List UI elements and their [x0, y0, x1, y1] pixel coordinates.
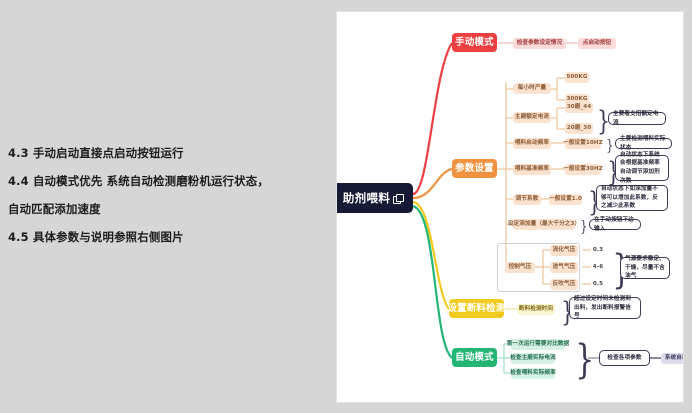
pressure-row-2-value-label: 4-6 [593, 264, 603, 271]
manual-step-1-label: 检查参数设定情况 [517, 40, 563, 47]
main-mill-current-value-1-label: 30磨_44 [567, 104, 592, 111]
manual-step-1[interactable]: 检查参数设定情况 [513, 38, 566, 49]
pressure-row-1-name-label: 流化气压 [553, 247, 576, 254]
note-feed-base-freq[interactable]: 自动状态下系统会根据基准频率自动调节添加剂次数 [615, 155, 669, 181]
param-feed-base-freq-label: 喂料基准频率 [515, 166, 549, 173]
pressure-row-2-name[interactable]: 进气气压 [550, 262, 578, 273]
param-adjust-coeff-label: 调节系数 [516, 196, 539, 203]
manual-step-2-label: 点启动按钮 [583, 40, 611, 47]
auto-item-3-label: 检查喂料实际频率 [510, 370, 556, 377]
pressure-row-3-name-label: 反吹气压 [553, 281, 576, 288]
note-add-amount[interactable]: 在手动按钮下边输入 [589, 219, 641, 230]
auto-result[interactable]: 系统自动运行 [661, 353, 684, 364]
adjust-coeff-value[interactable]: 一般设置1.0 [549, 194, 582, 205]
branch-parameter-settings-label: 参数设置 [455, 163, 494, 175]
auto-item-2-label: 检查主磨实际电流 [510, 355, 556, 362]
note-line-4-4: 4.4 自动模式优先 系统自动检测磨粉机运行状态， [8, 173, 269, 189]
note-adjust-coeff[interactable]: 自动状态下如添加量不够可以增加此系数，反之减少此系数 [596, 185, 668, 211]
note-control-pressure-label: 气源要求稳定、干燥，尽量不含油气 [625, 255, 665, 281]
note-feed-start-freq[interactable]: 主要检测喂料实际状态 [615, 138, 672, 149]
feed-base-freq-value[interactable]: 一般设置30HZ [565, 164, 601, 175]
pressure-row-3-name[interactable]: 反吹气压 [550, 279, 578, 290]
branch-break-detection[interactable]: 设置断料检测 [449, 299, 504, 318]
brace-auto-mode: } [575, 340, 594, 380]
param-control-pressure[interactable]: 控制气压 [505, 262, 535, 273]
pressure-row-2-name-label: 进气气压 [553, 264, 576, 271]
note-feed-base-freq-label: 自动状态下系统会根据基准频率自动调节添加剂次数 [620, 151, 664, 186]
main-mill-current-value-2-label: 20磨_30 [567, 125, 592, 132]
branch-auto-mode-label: 自动模式 [455, 352, 494, 364]
param-main-mill-current[interactable]: 主磨额定电流 [513, 112, 551, 123]
auto-item-1-label: 第一次运行需要对比数据 [507, 341, 570, 348]
left-notes-panel: 4.3 手动启动直接点启动按钮运行 4.4 自动模式优先 系统自动检测磨粉机运行… [0, 0, 332, 413]
auto-check-params-label: 检查各项参数 [607, 354, 641, 363]
feed-start-freq-value[interactable]: 一般设置10HZ [565, 138, 601, 149]
brace-feed-start-freq: } [606, 138, 613, 153]
branch-manual-mode-label: 手动模式 [455, 37, 494, 49]
param-feed-base-freq[interactable]: 喂料基准频率 [513, 164, 551, 175]
root-node-label: 助剂喂料 [343, 191, 391, 205]
note-line-4-5: 4.5 具体参数与说明参照右侧图片 [8, 229, 184, 245]
brace-add-amount: } [580, 219, 587, 234]
manual-step-2[interactable]: 点启动按钮 [578, 38, 616, 49]
note-main-mill-current[interactable]: 主要看支招额定电流 [608, 112, 666, 125]
param-hourly-output[interactable]: 每小时产量 [513, 83, 551, 94]
param-hourly-output-label: 每小时产量 [518, 85, 546, 92]
note-control-pressure[interactable]: 气源要求稳定、干燥，尽量不含油气 [620, 257, 670, 279]
auto-item-3[interactable]: 检查喂料实际频率 [511, 368, 555, 379]
branch-break-detection-label: 设置断料检测 [447, 303, 505, 315]
pressure-row-3-value: 0.5 [591, 279, 605, 290]
main-mill-current-value-2[interactable]: 20磨_30 [565, 123, 593, 134]
auto-item-2[interactable]: 检查主磨实际电流 [511, 353, 555, 364]
feed-base-freq-value-label: 一般设置30HZ [563, 166, 603, 173]
branch-manual-mode[interactable]: 手动模式 [452, 33, 497, 52]
note-adjust-coeff-label: 自动状态下如添加量不够可以增加此系数，反之减少此系数 [601, 185, 663, 211]
pressure-row-1-name[interactable]: 流化气压 [550, 245, 578, 256]
adjust-coeff-value-label: 一般设置1.0 [549, 196, 582, 203]
break-detection-time-label: 断料检测时间 [519, 306, 553, 313]
hourly-output-value-1-label: 500KG [566, 74, 587, 81]
param-control-pressure-label: 控制气压 [509, 264, 532, 271]
hourly-output-value-1[interactable]: 500KG [565, 72, 589, 83]
param-feed-start-freq[interactable]: 喂料启动频率 [513, 138, 551, 149]
pressure-row-1-value: 0.3 [591, 245, 605, 256]
root-node[interactable]: 助剂喂料 [336, 183, 413, 213]
mindmap-canvas: 助剂喂料 手动模式 检查参数设定情况 点启动按钮 参数设置 每小时产量 500K… [337, 12, 683, 402]
auto-check-params[interactable]: 检查各项参数 [599, 350, 650, 366]
param-adjust-coeff[interactable]: 调节系数 [513, 194, 541, 205]
param-add-amount[interactable]: 设定添加量（最大千分之3） [513, 219, 575, 230]
auto-item-1[interactable]: 第一次运行需要对比数据 [511, 339, 565, 350]
pressure-row-1-value-label: 0.3 [593, 247, 603, 254]
mindmap-panel: 助剂喂料 手动模式 检查参数设定情况 点启动按钮 参数设置 每小时产量 500K… [336, 11, 684, 403]
note-break-detection-label: 超过设定时间未检测到出料，发出断料报警信号 [574, 295, 636, 321]
feed-start-freq-value-label: 一般设置10HZ [563, 140, 603, 147]
note-feed-start-freq-label: 主要检测喂料实际状态 [620, 135, 667, 152]
branch-auto-mode[interactable]: 自动模式 [452, 348, 497, 367]
note-break-detection[interactable]: 超过设定时间未检测到出料，发出断料报警信号 [569, 297, 641, 319]
main-mill-current-value-1[interactable]: 30磨_44 [565, 102, 593, 113]
param-main-mill-current-label: 主磨额定电流 [515, 114, 549, 121]
param-feed-start-freq-label: 喂料启动频率 [515, 140, 549, 147]
pressure-row-3-value-label: 0.5 [593, 281, 603, 288]
break-detection-time[interactable]: 断料检测时间 [517, 304, 555, 315]
note-add-amount-label: 在手动按钮下边输入 [594, 216, 636, 233]
pressure-row-2-value: 4-6 [591, 262, 605, 273]
auto-result-label: 系统自动运行 [665, 355, 684, 362]
note-main-mill-current-label: 主要看支招额定电流 [613, 110, 661, 127]
branch-parameter-settings[interactable]: 参数设置 [452, 159, 497, 178]
copy-icon[interactable] [393, 194, 402, 203]
note-line-4-4-cont: 自动匹配添加速度 [8, 201, 101, 217]
note-line-4-3: 4.3 手动启动直接点启动按钮运行 [8, 145, 184, 161]
param-add-amount-label: 设定添加量（最大千分之3） [508, 221, 580, 228]
